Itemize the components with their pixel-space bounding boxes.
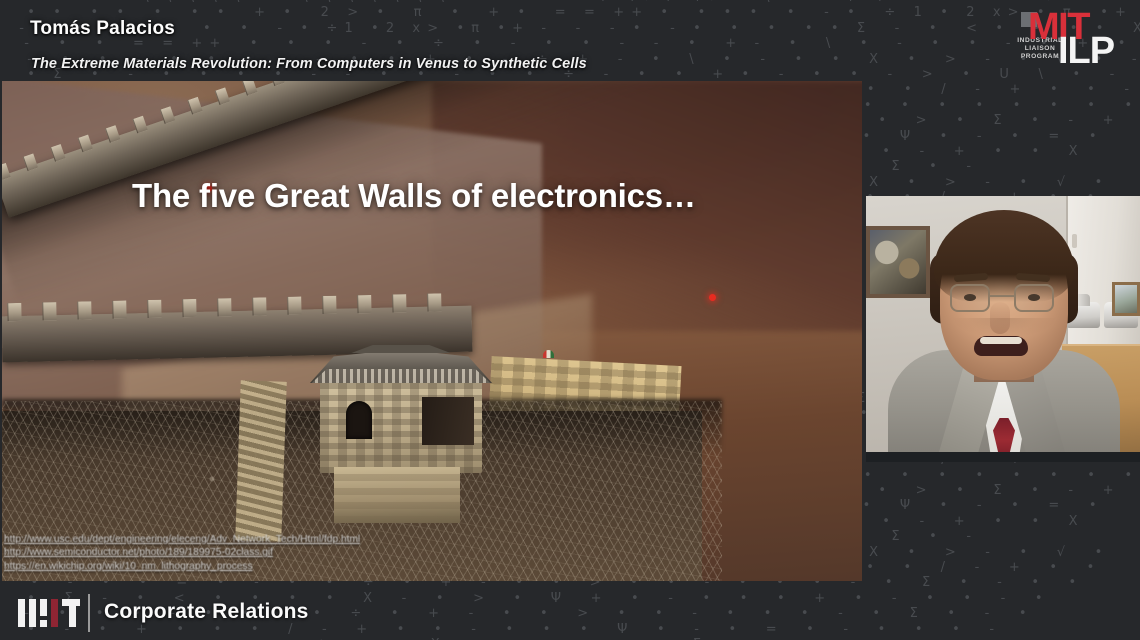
presentation-header: Tomás Palacios The Extreme Materials Rev… <box>0 0 1140 81</box>
wall-merlon <box>270 81 285 86</box>
mit-logo-bar <box>18 599 25 627</box>
mit-logo-bar <box>29 599 36 627</box>
mit-logo-bar-red <box>51 599 58 627</box>
watchtower-roof-ridge <box>342 345 460 353</box>
webcam-door-handle <box>1072 234 1077 248</box>
wall-merlon <box>147 300 161 318</box>
framed-artwork-canvas <box>1115 285 1137 313</box>
source-url-1: http://www.usc.edu/dept/engineering/elec… <box>4 533 360 547</box>
wall-merlon <box>322 296 336 314</box>
wall-merlon <box>217 298 231 316</box>
wall-merlon <box>112 301 126 319</box>
shared-slide-video[interactable]: The five Great Walls of electronics… htt… <box>2 81 862 581</box>
footer-divider <box>88 594 90 632</box>
footer-brand-text: Corporate Relations <box>104 600 309 624</box>
wall-merlon <box>357 295 371 313</box>
presentation-footer: Corporate Relations <box>0 588 1140 640</box>
wall-merlon <box>182 299 196 317</box>
watchtower-stone-base <box>334 467 460 523</box>
framed-artwork-canvas <box>870 230 926 294</box>
great-wall-watchtower <box>302 319 502 519</box>
laser-pointer-dot <box>709 294 716 301</box>
wall-merlon <box>7 303 21 321</box>
mit-logo-bar <box>40 620 47 627</box>
watchtower-side-shadow <box>422 397 474 445</box>
speaker-teeth <box>980 337 1022 344</box>
wall-merlon <box>287 297 301 315</box>
watchtower-roof-tiles <box>308 369 494 383</box>
webcam-bottom-letterbox <box>866 452 1140 462</box>
webcam-framed-artwork-right <box>1112 282 1140 316</box>
mit-ilp-logo: INDUSTRIAL LIAISON PROGRAM MIT ILP <box>1004 4 1134 74</box>
eyeglasses-lens-right <box>1014 284 1054 312</box>
speaker-nose <box>990 302 1010 334</box>
ilp-ilp-text: ILP <box>1058 32 1114 70</box>
slide-title: The five Great Walls of electronics… <box>132 177 696 215</box>
mit-logo-bar <box>69 599 76 627</box>
mit-logo <box>18 599 80 627</box>
participant-webcam-tile[interactable] <box>866 196 1140 462</box>
great-wall-stair-ramp <box>235 380 287 542</box>
speaker-name: Tomás Palacios <box>30 18 175 40</box>
watchtower-arched-doorway <box>346 401 372 439</box>
wall-merlon <box>252 297 266 315</box>
wall-merlon <box>392 294 406 312</box>
source-url-2: http://www.semiconductor.net/photo/189/1… <box>4 546 360 560</box>
tourist-umbrella <box>543 350 554 358</box>
slide-source-urls: http://www.usc.edu/dept/engineering/elec… <box>4 533 360 574</box>
talk-title: The Extreme Materials Revolution: From C… <box>31 56 587 72</box>
wall-merlon <box>427 293 441 311</box>
wall-merlon <box>42 302 56 320</box>
wall-merlon <box>77 301 91 319</box>
mit-logo-bar <box>40 599 47 616</box>
eyeglasses-bridge <box>990 295 1014 297</box>
eyeglasses-lens-left <box>950 284 990 312</box>
source-url-3: https://en.wikichip.org/wiki/10_nm_litho… <box>4 560 360 574</box>
webcam-framed-artwork-left <box>866 226 930 298</box>
